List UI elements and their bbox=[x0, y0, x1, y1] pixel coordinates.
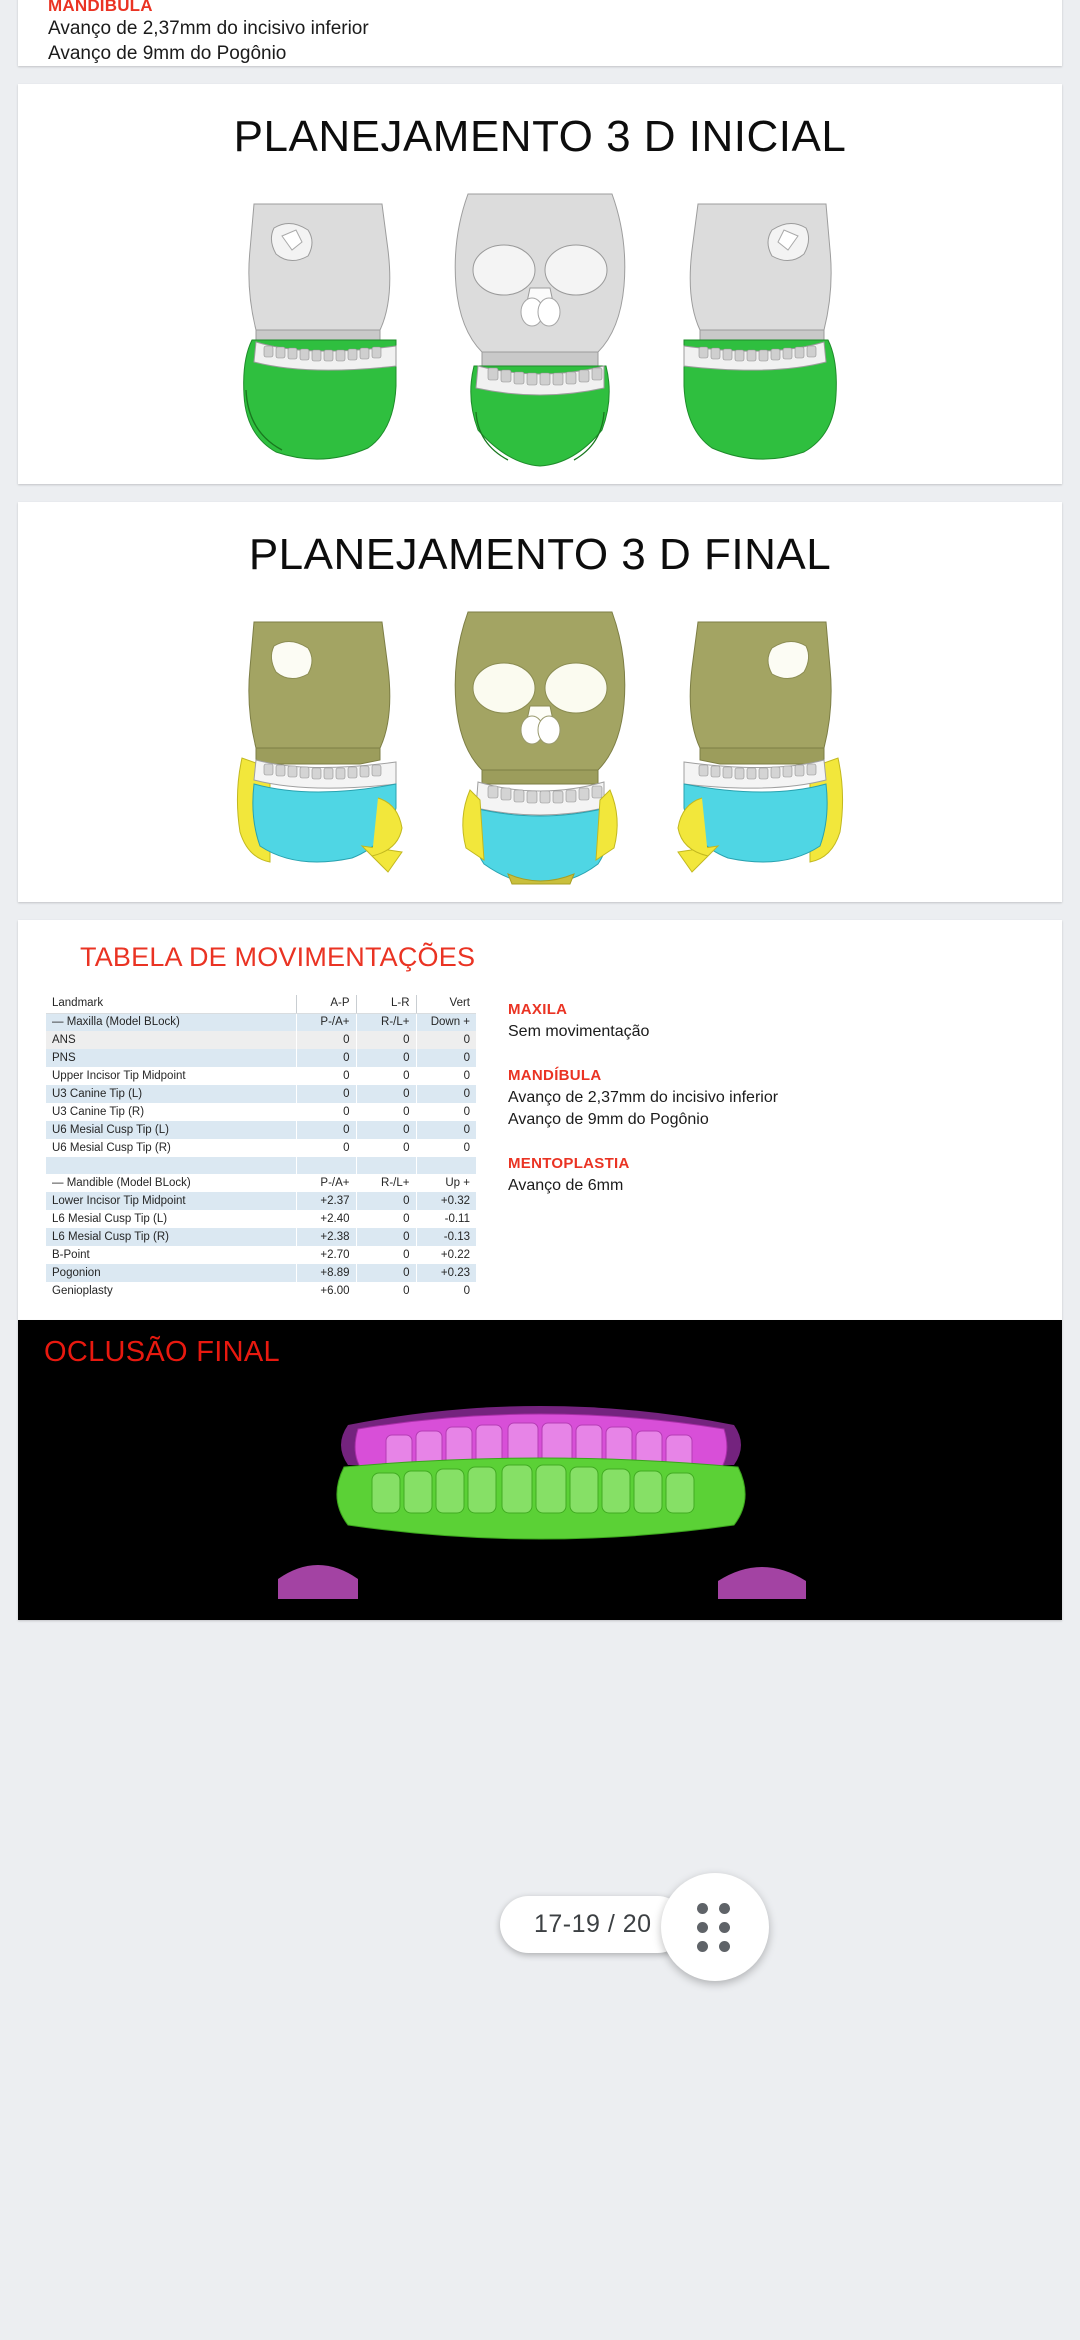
table-heading: TABELA DE MOVIMENTAÇÕES bbox=[18, 920, 1062, 973]
cell-lr: 0 bbox=[356, 1210, 416, 1228]
cell-lr: 0 bbox=[356, 1282, 416, 1300]
col-landmark: Landmark bbox=[46, 995, 296, 1013]
table-row: B-Point+2.700+0.22 bbox=[46, 1246, 476, 1264]
cell-lr: 0 bbox=[356, 1103, 416, 1121]
cell-ap: 0 bbox=[296, 1085, 356, 1103]
cell-vert: +0.22 bbox=[416, 1246, 476, 1264]
presentation-viewer: MANDÍBULA Avanço de 2,37mm do incisivo i… bbox=[0, 0, 1080, 2334]
note-line: Avanço de 9mm do Pogônio bbox=[508, 1109, 778, 1131]
skull-frontal-final bbox=[422, 602, 658, 888]
note-line: Sem movimentação bbox=[508, 1021, 778, 1043]
cell-vert: Down + bbox=[416, 1013, 476, 1031]
cell-ap: 0 bbox=[296, 1139, 356, 1157]
cell-vert: 0 bbox=[416, 1031, 476, 1049]
cell-vert bbox=[416, 1157, 476, 1174]
cell-vert: -0.13 bbox=[416, 1228, 476, 1246]
cell-ap: 0 bbox=[296, 1103, 356, 1121]
note-line: Avanço de 6mm bbox=[508, 1175, 778, 1197]
cell-label: B-Point bbox=[46, 1246, 296, 1264]
cell-label: Upper Incisor Tip Midpoint bbox=[46, 1067, 296, 1085]
table-row: Lower Incisor Tip Midpoint+2.370+0.32 bbox=[46, 1192, 476, 1210]
cell-lr: 0 bbox=[356, 1067, 416, 1085]
slide-title-final: PLANEJAMENTO 3 D FINAL bbox=[18, 502, 1062, 580]
slide-tabela-movimentacoes[interactable]: TABELA DE MOVIMENTAÇÕES Landmark A-P L-R… bbox=[18, 920, 1062, 1320]
cell-vert: 0 bbox=[416, 1085, 476, 1103]
cell-lr: 0 bbox=[356, 1085, 416, 1103]
table-row: L6 Mesial Cusp Tip (R)+2.380-0.13 bbox=[46, 1228, 476, 1246]
skull-render-row-initial bbox=[18, 180, 1062, 470]
table-row: U6 Mesial Cusp Tip (L)000 bbox=[46, 1121, 476, 1139]
cell-label: L6 Mesial Cusp Tip (R) bbox=[46, 1228, 296, 1246]
skull-render-row-final bbox=[18, 598, 1062, 888]
table-row bbox=[46, 1157, 476, 1174]
cell-ap: 0 bbox=[296, 1067, 356, 1085]
cell-label: — Mandible (Model BLock) bbox=[46, 1174, 296, 1192]
cell-ap: 0 bbox=[296, 1049, 356, 1067]
cell-vert: Up + bbox=[416, 1174, 476, 1192]
slide-divider bbox=[0, 66, 1080, 84]
cell-label: U6 Mesial Cusp Tip (R) bbox=[46, 1139, 296, 1157]
table-row: ANS000 bbox=[46, 1031, 476, 1049]
slide-title-inicial: PLANEJAMENTO 3 D INICIAL bbox=[18, 84, 1062, 162]
cell-label: U6 Mesial Cusp Tip (L) bbox=[46, 1121, 296, 1139]
table-row: Upper Incisor Tip Midpoint000 bbox=[46, 1067, 476, 1085]
cell-label: Lower Incisor Tip Midpoint bbox=[46, 1192, 296, 1210]
table-row: Pogonion+8.890+0.23 bbox=[46, 1264, 476, 1282]
table-row: — Mandible (Model BLock)P-/A+R-/L+Up + bbox=[46, 1174, 476, 1192]
apps-grid-fab[interactable] bbox=[661, 1873, 769, 1981]
mandibula-line-1: Avanço de 2,37mm do incisivo inferior bbox=[48, 16, 1062, 41]
cell-vert: 0 bbox=[416, 1067, 476, 1085]
slide-divider-3 bbox=[0, 902, 1080, 920]
cell-ap: +8.89 bbox=[296, 1264, 356, 1282]
cell-lr: 0 bbox=[356, 1228, 416, 1246]
occlusion-render bbox=[18, 1369, 1062, 1599]
cell-label: U3 Canine Tip (R) bbox=[46, 1103, 296, 1121]
cell-lr: 0 bbox=[356, 1246, 416, 1264]
cell-lr: 0 bbox=[356, 1031, 416, 1049]
table-row: Genioplasty+6.0000 bbox=[46, 1282, 476, 1300]
skull-lateral-left-final bbox=[212, 608, 412, 888]
apps-grid-icon bbox=[697, 1903, 733, 1952]
cell-ap: 0 bbox=[296, 1031, 356, 1049]
cell-label: L6 Mesial Cusp Tip (L) bbox=[46, 1210, 296, 1228]
cell-lr: R-/L+ bbox=[356, 1174, 416, 1192]
cell-ap bbox=[296, 1157, 356, 1174]
col-lr: L-R bbox=[356, 995, 416, 1013]
cell-lr: 0 bbox=[356, 1192, 416, 1210]
col-vert: Vert bbox=[416, 995, 476, 1013]
cell-label bbox=[46, 1157, 296, 1174]
col-ap: A-P bbox=[296, 995, 356, 1013]
note-line: Avanço de 2,37mm do incisivo inferior bbox=[508, 1087, 778, 1109]
slide-divider-2 bbox=[0, 484, 1080, 502]
cell-ap: +2.40 bbox=[296, 1210, 356, 1228]
slide-oclusao-final[interactable]: OCLUSÃO FINAL bbox=[18, 1320, 1062, 1620]
movements-table-body: — Maxilla (Model BLock)P-/A+R-/L+Down +A… bbox=[46, 1013, 476, 1300]
cell-label: U3 Canine Tip (L) bbox=[46, 1085, 296, 1103]
note-heading: MAXILA bbox=[508, 999, 778, 1021]
note-heading: MANDÍBULA bbox=[508, 1065, 778, 1087]
cell-ap: P-/A+ bbox=[296, 1013, 356, 1031]
oclusao-title: OCLUSÃO FINAL bbox=[18, 1320, 1062, 1369]
cell-label: Pogonion bbox=[46, 1264, 296, 1282]
movement-notes: MAXILASem movimentaçãoMANDÍBULAAvanço de… bbox=[508, 995, 778, 1300]
page-indicator[interactable]: 17-19 / 20 bbox=[500, 1896, 686, 1953]
table-row: U3 Canine Tip (L)000 bbox=[46, 1085, 476, 1103]
cell-vert: -0.11 bbox=[416, 1210, 476, 1228]
table-row: U6 Mesial Cusp Tip (R)000 bbox=[46, 1139, 476, 1157]
cell-ap: +2.37 bbox=[296, 1192, 356, 1210]
cell-label: ANS bbox=[46, 1031, 296, 1049]
table-row: U3 Canine Tip (R)000 bbox=[46, 1103, 476, 1121]
cell-vert: 0 bbox=[416, 1103, 476, 1121]
table-header-row: Landmark A-P L-R Vert bbox=[46, 995, 476, 1013]
cell-lr bbox=[356, 1157, 416, 1174]
skull-frontal-initial bbox=[422, 184, 658, 470]
cell-label: — Maxilla (Model BLock) bbox=[46, 1013, 296, 1031]
skull-lateral-right-final bbox=[668, 608, 868, 888]
skull-lateral-right-initial bbox=[668, 190, 868, 470]
cell-lr: R-/L+ bbox=[356, 1013, 416, 1031]
cell-vert: +0.23 bbox=[416, 1264, 476, 1282]
cell-ap: +2.38 bbox=[296, 1228, 356, 1246]
movements-table: Landmark A-P L-R Vert — Maxilla (Model B… bbox=[46, 995, 476, 1300]
cell-vert: +0.32 bbox=[416, 1192, 476, 1210]
table-row: L6 Mesial Cusp Tip (L)+2.400-0.11 bbox=[46, 1210, 476, 1228]
cell-ap: 0 bbox=[296, 1121, 356, 1139]
cell-ap: P-/A+ bbox=[296, 1174, 356, 1192]
cell-vert: 0 bbox=[416, 1282, 476, 1300]
mandibula-line-2: Avanço de 9mm do Pogônio bbox=[48, 41, 1062, 66]
cell-ap: +2.70 bbox=[296, 1246, 356, 1264]
cell-lr: 0 bbox=[356, 1264, 416, 1282]
table-row: PNS000 bbox=[46, 1049, 476, 1067]
cell-lr: 0 bbox=[356, 1139, 416, 1157]
slide-mandibula-summary[interactable]: MANDÍBULA Avanço de 2,37mm do incisivo i… bbox=[18, 0, 1062, 66]
cell-ap: +6.00 bbox=[296, 1282, 356, 1300]
mandibula-heading: MANDÍBULA bbox=[48, 0, 1062, 16]
note-block: MANDÍBULAAvanço de 2,37mm do incisivo in… bbox=[508, 1065, 778, 1131]
cell-vert: 0 bbox=[416, 1121, 476, 1139]
skull-lateral-left-initial bbox=[212, 190, 412, 470]
cell-label: PNS bbox=[46, 1049, 296, 1067]
cell-vert: 0 bbox=[416, 1049, 476, 1067]
table-row: — Maxilla (Model BLock)P-/A+R-/L+Down + bbox=[46, 1013, 476, 1031]
slide-planejamento-final[interactable]: PLANEJAMENTO 3 D FINAL bbox=[18, 502, 1062, 902]
note-heading: MENTOPLASTIA bbox=[508, 1153, 778, 1175]
cell-lr: 0 bbox=[356, 1049, 416, 1067]
note-block: MENTOPLASTIAAvanço de 6mm bbox=[508, 1153, 778, 1197]
note-block: MAXILASem movimentação bbox=[508, 999, 778, 1043]
cell-vert: 0 bbox=[416, 1139, 476, 1157]
cell-label: Genioplasty bbox=[46, 1282, 296, 1300]
cell-lr: 0 bbox=[356, 1121, 416, 1139]
slide-planejamento-inicial[interactable]: PLANEJAMENTO 3 D INICIAL bbox=[18, 84, 1062, 484]
